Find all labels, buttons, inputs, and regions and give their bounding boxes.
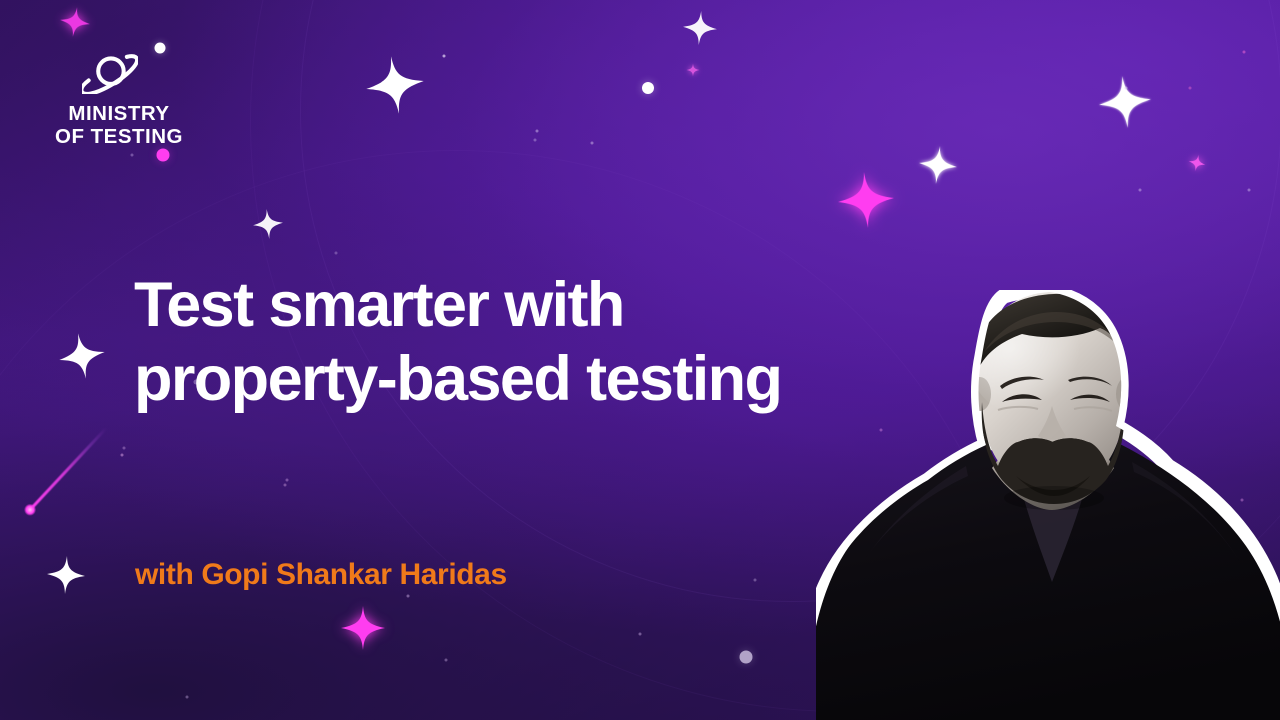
talk-title: Test smarter with property-based testing <box>134 268 894 417</box>
ministry-of-testing-logo[interactable]: MINISTRY OF TESTING <box>44 48 194 149</box>
speaker-credit: with Gopi Shankar Haridas <box>135 558 507 592</box>
title-line-1: Test smarter with <box>134 268 894 342</box>
saturn-planet-icon <box>82 48 138 94</box>
title-line-2: property-based testing <box>134 342 894 416</box>
logo-wordmark: MINISTRY OF TESTING <box>44 102 194 149</box>
title-card: MINISTRY OF TESTING Test smarter with pr… <box>0 0 1280 720</box>
